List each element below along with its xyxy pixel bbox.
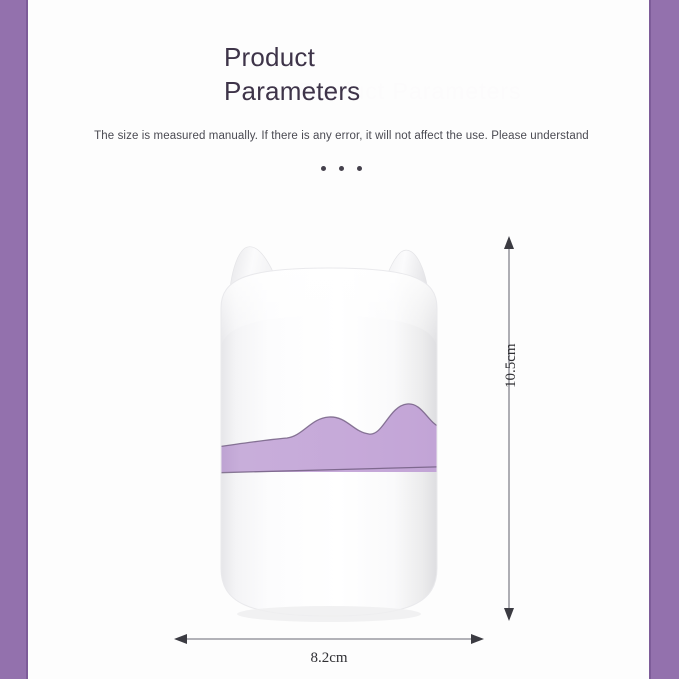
size-disclaimer-text: The size is measured manually. If there … bbox=[34, 130, 649, 142]
height-dimension-label: 10.5cm bbox=[503, 343, 520, 388]
product-body bbox=[209, 268, 471, 622]
dot-icon bbox=[339, 166, 344, 171]
width-dimension-label: 8.2cm bbox=[174, 650, 484, 667]
width-dimension: 8.2cm bbox=[174, 630, 484, 675]
right-purple-bar-rule bbox=[649, 0, 651, 679]
width-arrow-icon bbox=[174, 630, 484, 648]
height-dimension: 10.5cm bbox=[489, 236, 529, 621]
right-purple-bar bbox=[651, 0, 679, 679]
page-title: Product Parameters bbox=[224, 40, 454, 108]
dot-icon bbox=[321, 166, 326, 171]
content-canvas: Product Parameters Product Parameters Th… bbox=[34, 0, 649, 679]
product-illustration bbox=[179, 230, 479, 630]
dot-icon bbox=[357, 166, 362, 171]
left-purple-bar bbox=[0, 0, 26, 679]
product-parameters-page: Product Parameters Product Parameters Th… bbox=[0, 0, 679, 679]
dot-separator bbox=[34, 166, 649, 171]
product-svg bbox=[179, 230, 479, 630]
height-arrow-icon bbox=[489, 236, 529, 621]
title-block: Product Parameters Product Parameters bbox=[224, 40, 454, 108]
